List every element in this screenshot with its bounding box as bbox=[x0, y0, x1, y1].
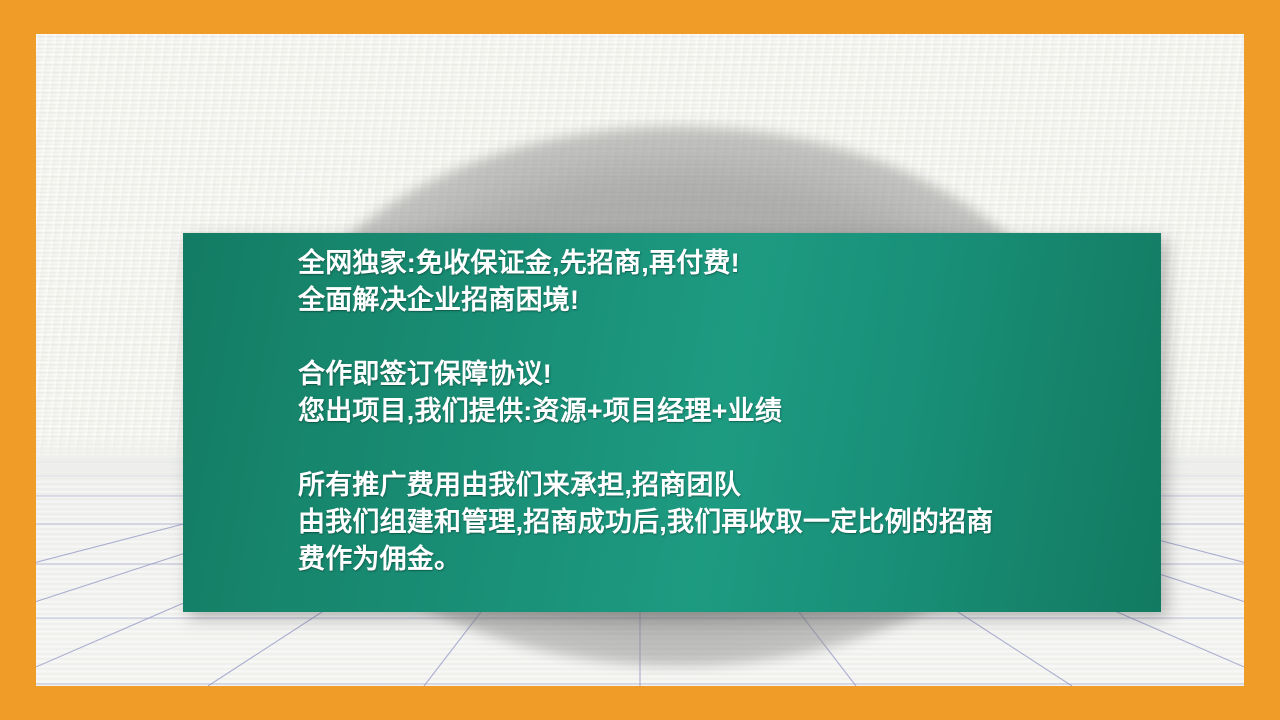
block-spacer-2 bbox=[298, 430, 1143, 467]
terms-line-3: 费作为佣金。 bbox=[298, 541, 1143, 578]
headline-line-1: 全网独家:免收保证金,先招商,再付费! bbox=[298, 245, 1143, 282]
panel-text-container: 全网独家:免收保证金,先招商,再付费! 全面解决企业招商困境! 合作即签订保障协… bbox=[298, 245, 1143, 612]
message-block-3: 所有推广费用由我们来承担,招商团队 由我们组建和管理,招商成功后,我们再收取一定… bbox=[298, 467, 1143, 578]
message-block-2: 合作即签订保障协议! 您出项目,我们提供:资源+项目经理+业绩 bbox=[298, 356, 1143, 430]
room-stage: 全网独家:免收保证金,先招商,再付费! 全面解决企业招商困境! 合作即签订保障协… bbox=[36, 34, 1244, 686]
headline-line-2: 全面解决企业招商困境! bbox=[298, 282, 1143, 319]
guarantee-line-1: 合作即签订保障协议! bbox=[298, 356, 1143, 393]
green-message-panel: 全网独家:免收保证金,先招商,再付费! 全面解决企业招商困境! 合作即签订保障协… bbox=[183, 233, 1161, 612]
block-spacer-1 bbox=[298, 319, 1143, 356]
slide-canvas: 全网独家:免收保证金,先招商,再付费! 全面解决企业招商困境! 合作即签订保障协… bbox=[0, 0, 1280, 720]
terms-line-1: 所有推广费用由我们来承担,招商团队 bbox=[298, 467, 1143, 504]
terms-line-2: 由我们组建和管理,招商成功后,我们再收取一定比例的招商 bbox=[298, 504, 1143, 541]
message-block-1: 全网独家:免收保证金,先招商,再付费! 全面解决企业招商困境! bbox=[298, 245, 1143, 319]
guarantee-line-2: 您出项目,我们提供:资源+项目经理+业绩 bbox=[298, 393, 1143, 430]
